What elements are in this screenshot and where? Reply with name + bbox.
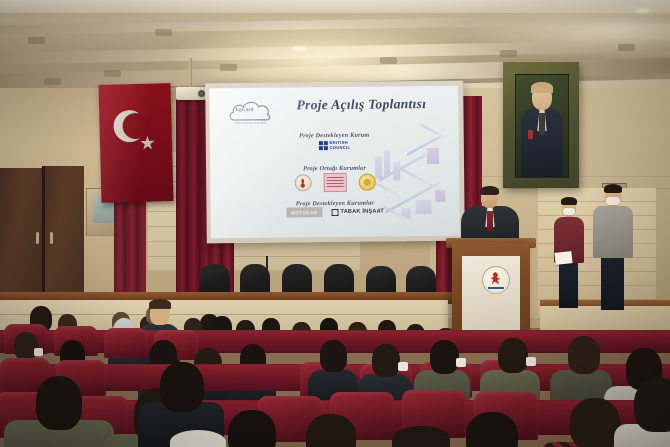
projection-screen-frame: EgCard PROJE ORTAK CALISMA Proje Açılış … <box>205 81 465 244</box>
partner-logos-row <box>294 173 375 193</box>
partner-logo-emblem <box>294 174 311 191</box>
door-handle-icon[interactable] <box>50 232 53 244</box>
ceiling-vent <box>380 57 397 64</box>
projector-pole <box>189 58 192 88</box>
projector-lens-icon <box>198 90 205 97</box>
door-gap <box>42 166 45 302</box>
british-council-logo: BRITISH COUNCIL <box>318 141 350 151</box>
star-icon <box>140 136 155 151</box>
ceiling-downlight <box>292 46 306 51</box>
ceiling-light-glow <box>170 20 470 90</box>
audience-area <box>0 292 670 447</box>
sponsor-logo-tabak: TABAK İNŞAAT <box>331 208 384 216</box>
british-council-squares-icon <box>318 141 327 150</box>
municipality-emblem-icon <box>482 266 510 294</box>
stage-chair <box>282 264 312 294</box>
microphone-stand <box>266 256 268 270</box>
ataturk-portrait-banner <box>503 62 579 188</box>
slide-title: Proje Açılış Toplantısı <box>271 96 451 114</box>
theater-seat[interactable] <box>104 328 148 358</box>
project-cloud-logo: EgCard PROJE ORTAK CALISMA <box>227 100 273 132</box>
ceiling-vent <box>500 50 517 57</box>
ceiling-projector <box>176 58 206 106</box>
cloud-logo-text: EgCard <box>235 108 253 113</box>
ceiling-vent <box>44 78 61 85</box>
sponsor-logo-tabak-label: TABAK İNŞAAT <box>340 208 384 214</box>
partner-logo-gold-seal <box>358 174 375 191</box>
held-papers <box>554 251 572 265</box>
ceiling-vent <box>155 29 172 36</box>
door-handle-icon[interactable] <box>36 232 39 244</box>
ceiling-vent <box>28 37 45 44</box>
ataturk-portrait <box>515 74 569 178</box>
tabak-square-icon <box>331 208 338 215</box>
stage-chair <box>200 264 230 294</box>
sponsor-logo-grey: MOTOCAR <box>286 207 323 217</box>
british-council-line2: COUNCIL <box>329 145 350 150</box>
ceiling-downlight <box>636 8 650 13</box>
crescent-icon <box>113 110 146 143</box>
partner-logo-pink-card <box>323 173 346 192</box>
projection-screen: EgCard PROJE ORTAK CALISMA Proje Açılış … <box>209 86 460 239</box>
ceiling-vent <box>220 64 237 71</box>
turkish-flag <box>98 83 173 203</box>
conference-hall-photo: EgCard PROJE ORTAK CALISMA Proje Açılış … <box>0 0 670 447</box>
ceiling-vent <box>104 70 121 77</box>
cloud-logo-subtext: PROJE ORTAK CALISMA <box>228 122 274 125</box>
sponsor-logos-row: MOTOCAR TABAK İNŞAAT <box>286 206 384 217</box>
stage-chair <box>324 264 354 294</box>
ceiling-vent <box>618 44 635 51</box>
